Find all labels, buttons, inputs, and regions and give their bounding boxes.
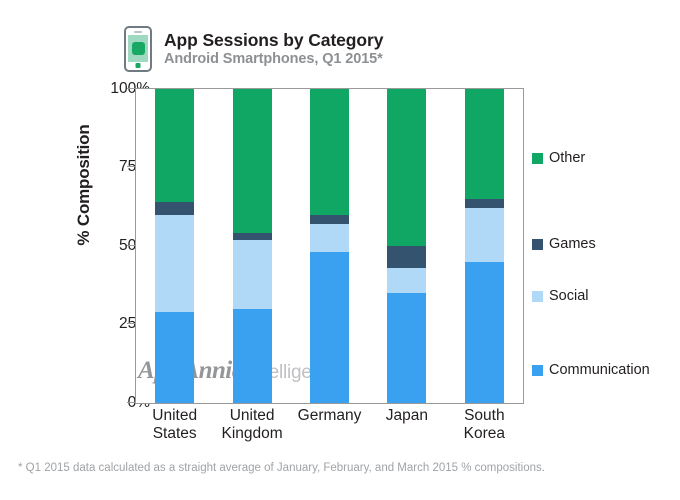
x-axis-label-line: Korea [446,425,523,443]
title-text-group: App Sessions by Category Android Smartph… [164,31,383,68]
legend-label-games: Games [549,236,596,252]
phone-screen [128,35,148,62]
legend-label-other: Other [549,150,585,166]
chart-header: App Sessions by Category Android Smartph… [124,26,383,72]
legend-swatch-social [532,291,543,302]
y-tick-mark-25 [127,323,135,324]
smartphone-icon [124,26,152,72]
bar-segment-other[interactable] [155,89,194,202]
x-axis-label-japan: Japan [368,407,445,444]
bar-segment-social[interactable] [310,224,349,252]
bar-segment-other[interactable] [465,89,504,199]
bar-segment-games[interactable] [465,199,504,208]
bar-segment-communication[interactable] [387,293,426,403]
x-axis-label-south-korea: SouthKorea [446,407,523,444]
x-axis-labels: UnitedStatesUnitedKingdomGermanyJapanSou… [136,407,523,444]
x-axis-label-united-states: UnitedStates [136,407,213,444]
bar-segment-communication[interactable] [465,262,504,403]
x-axis-label-line: United [136,407,213,425]
y-tick-label-75: 75% [40,158,150,176]
footnote: * Q1 2015 data calculated as a straight … [18,462,545,474]
chart-subtitle: Android Smartphones, Q1 2015* [164,51,383,67]
bar-slot [368,89,445,403]
x-axis-label-germany: Germany [291,407,368,444]
plot-area [135,88,524,404]
bar-segment-games[interactable] [387,246,426,268]
y-tick-mark-0 [127,402,135,403]
phone-speaker [134,31,142,33]
x-axis-label-line: South [446,407,523,425]
y-tick-mark-50 [127,245,135,246]
phone-home-button [136,63,141,68]
legend-item-other[interactable]: Other [532,150,585,166]
stacked-bar-south-korea[interactable] [465,89,504,403]
bar-segment-social[interactable] [233,240,272,309]
bar-segment-other[interactable] [310,89,349,215]
y-tick-mark-100 [127,88,135,89]
legend-swatch-communication [532,365,543,376]
bar-segment-social[interactable] [155,215,194,312]
bar-segment-communication[interactable] [233,309,272,403]
stacked-bar-japan[interactable] [387,89,426,403]
legend-label-social: Social [549,288,589,304]
bar-segment-communication[interactable] [155,312,194,403]
bar-segment-social[interactable] [387,268,426,293]
bar-slot [136,89,213,403]
legend-label-communication: Communication [549,362,650,378]
x-axis-label-line: Japan [368,407,445,425]
y-tick-label-25: 25% [40,315,150,333]
bar-segment-other[interactable] [387,89,426,246]
x-axis-label-line: Kingdom [213,425,290,443]
stacked-bar-germany[interactable] [310,89,349,403]
legend-item-social[interactable]: Social [532,288,589,304]
y-tick-mark-75 [127,166,135,167]
bar-segment-social[interactable] [465,208,504,261]
x-axis-label-line: United [213,407,290,425]
x-axis-label-line: States [136,425,213,443]
bar-segment-games[interactable] [310,215,349,224]
chart-legend: OtherGamesSocialCommunication [532,88,677,402]
bar-slot [213,89,290,403]
app-square-icon [132,42,145,55]
bar-segment-other[interactable] [233,89,272,233]
stacked-bar-united-kingdom[interactable] [233,89,272,403]
bar-segment-communication[interactable] [310,252,349,403]
y-tick-label-100: 100% [40,80,150,98]
x-axis-label-line: Germany [291,407,368,425]
legend-item-communication[interactable]: Communication [532,362,650,378]
stacked-bar-united-states[interactable] [155,89,194,403]
bar-slot [446,89,523,403]
y-tick-label-50: 50% [40,237,150,255]
x-axis-label-united-kingdom: UnitedKingdom [213,407,290,444]
chart-title: App Sessions by Category [164,31,383,51]
y-tick-label-0: 0% [40,394,150,412]
legend-swatch-other [532,153,543,164]
legend-swatch-games [532,239,543,250]
legend-item-games[interactable]: Games [532,236,596,252]
stacked-bars [136,89,523,403]
bar-segment-games[interactable] [155,202,194,215]
bar-slot [291,89,368,403]
